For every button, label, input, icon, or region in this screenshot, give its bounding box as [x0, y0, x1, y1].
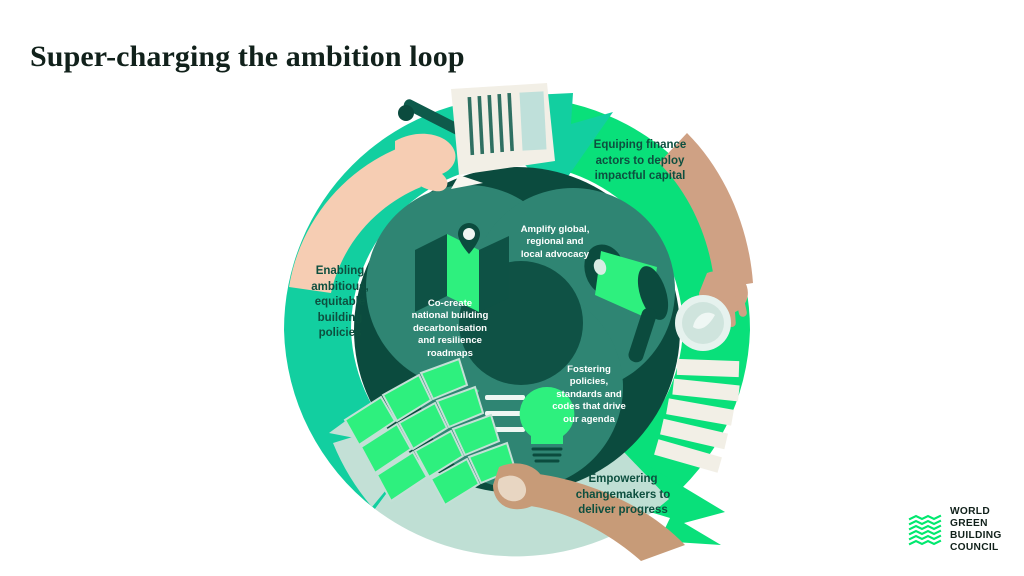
page-title: Super-charging the ambition loop [30, 40, 465, 74]
label-amplify-advocacy: Amplify global, regional and local advoc… [500, 224, 610, 261]
label-fostering-policies: Fostering policies, standards and codes … [535, 364, 643, 426]
stacked-chevrons-icon [908, 513, 942, 547]
label-enabling-policies: Enabling ambitious, equitable building p… [288, 264, 392, 342]
wgbc-logo: WORLD GREEN BUILDING COUNCIL [908, 504, 1016, 556]
label-co-create-roadmaps: Co-create national building decarbonisat… [395, 298, 505, 360]
logo-wordmark: WORLD GREEN BUILDING COUNCIL [950, 506, 1002, 554]
label-equiping-finance: Equiping finance actors to deploy impact… [560, 138, 720, 185]
label-empowering-changemakers: Empowering changemakers to deliver progr… [538, 472, 708, 519]
